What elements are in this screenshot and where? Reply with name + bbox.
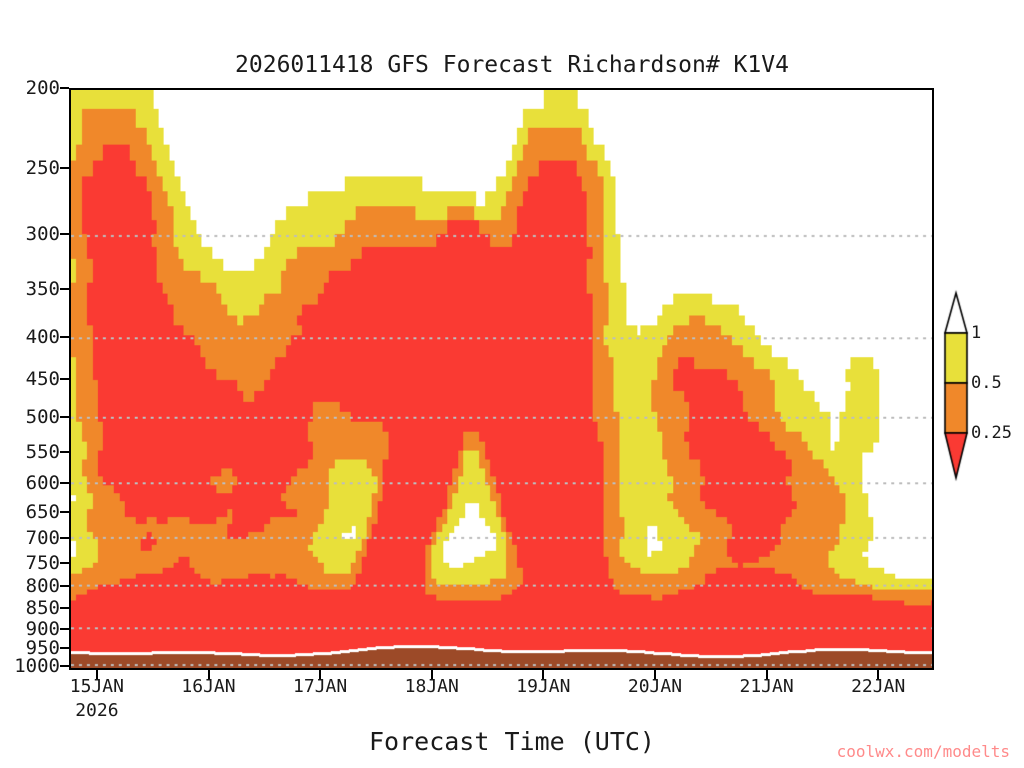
- y-tick-label: 650: [0, 501, 60, 523]
- y-tick-label: 450: [0, 368, 60, 390]
- x-tick-mark: [319, 670, 321, 679]
- colorbar-tick-label: 0.5: [971, 373, 1002, 393]
- x-tick-mark: [542, 670, 544, 679]
- colorbar-tick-label: 1: [971, 323, 981, 343]
- x-tick-label: 22JAN: [833, 676, 923, 697]
- plot-area: [69, 88, 934, 670]
- y-tick-mark: [60, 665, 69, 667]
- terrain-mask: [71, 90, 932, 668]
- x-tick-mark: [654, 670, 656, 679]
- x-tick-label: 18JAN: [387, 676, 477, 697]
- y-tick-label: 600: [0, 472, 60, 494]
- y-tick-mark: [60, 233, 69, 235]
- x-tick-mark: [766, 670, 768, 679]
- y-tick-label: 500: [0, 406, 60, 428]
- y-tick-mark: [60, 562, 69, 564]
- y-tick-mark: [60, 628, 69, 630]
- y-tick-mark: [60, 647, 69, 649]
- y-tick-mark: [60, 288, 69, 290]
- y-tick-label: 550: [0, 441, 60, 463]
- x-tick-mark: [96, 670, 98, 679]
- y-tick-mark: [60, 607, 69, 609]
- watermark: coolwx.com/modelts: [837, 742, 1010, 761]
- y-tick-mark: [60, 87, 69, 89]
- page-title: 2026011418 GFS Forecast Richardson# K1V4: [0, 52, 1024, 78]
- y-tick-label: 250: [0, 157, 60, 179]
- y-tick-label: 700: [0, 527, 60, 549]
- x-tick-label: 15JAN: [52, 676, 142, 697]
- y-tick-label: 800: [0, 575, 60, 597]
- colorbar: 10.50.25: [937, 288, 1023, 488]
- y-tick-mark: [60, 416, 69, 418]
- x-tick-mark: [208, 670, 210, 679]
- y-tick-label: 350: [0, 278, 60, 300]
- y-tick-mark: [60, 378, 69, 380]
- y-tick-mark: [60, 451, 69, 453]
- y-tick-mark: [60, 585, 69, 587]
- y-tick-mark: [60, 336, 69, 338]
- x-tick-label: 20JAN: [610, 676, 700, 697]
- y-tick-label: 750: [0, 552, 60, 574]
- colorbar-tick-label: 0.25: [971, 423, 1012, 443]
- x-tick-label: 17JAN: [275, 676, 365, 697]
- y-tick-mark: [60, 482, 69, 484]
- x-axis-year-label: 2026: [52, 700, 142, 721]
- x-tick-label: 21JAN: [722, 676, 812, 697]
- x-tick-label: 19JAN: [498, 676, 588, 697]
- chart-root: 2026011418 GFS Forecast Richardson# K1V4…: [0, 0, 1024, 768]
- x-tick-label: 16JAN: [164, 676, 254, 697]
- x-tick-mark: [431, 670, 433, 679]
- y-tick-mark: [60, 167, 69, 169]
- y-tick-label: 200: [0, 77, 60, 99]
- y-tick-label: 1000: [0, 655, 60, 677]
- y-tick-label: 400: [0, 326, 60, 348]
- y-tick-label: 300: [0, 223, 60, 245]
- y-tick-mark: [60, 511, 69, 513]
- y-tick-label: 850: [0, 597, 60, 619]
- x-tick-mark: [877, 670, 879, 679]
- y-tick-mark: [60, 537, 69, 539]
